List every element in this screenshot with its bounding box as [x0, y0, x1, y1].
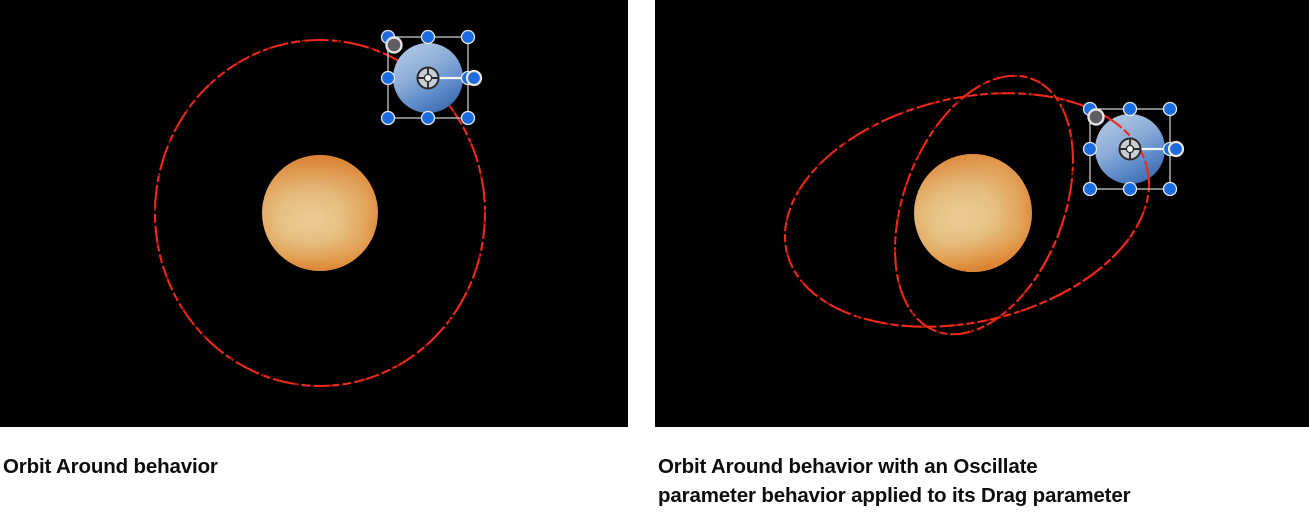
center-crosshair-icon[interactable]	[1120, 139, 1141, 160]
resize-handle-bottom-left[interactable]	[1084, 183, 1097, 196]
orange-sphere[interactable]	[914, 154, 1032, 272]
resize-handle-bottom-left[interactable]	[382, 112, 395, 125]
figure-caption-orbit-around: Orbit Around behavior	[3, 452, 623, 481]
canvas-orbit-around[interactable]	[0, 0, 628, 427]
resize-handle-middle-left[interactable]	[1084, 143, 1097, 156]
resize-handle-bottom-right[interactable]	[462, 112, 475, 125]
resize-handle-bottom-center[interactable]	[422, 112, 435, 125]
resize-handle-top-right[interactable]	[1164, 103, 1177, 116]
resize-handle-top-center[interactable]	[1124, 103, 1137, 116]
anchor-point-handle[interactable]	[387, 38, 402, 53]
orbit-around-oscillate-scene	[655, 0, 1309, 427]
resize-handle-bottom-center[interactable]	[1124, 183, 1137, 196]
rotation-handle[interactable]	[1169, 142, 1183, 156]
canvas-orbit-around-oscillate[interactable]	[655, 0, 1309, 427]
figure-caption-orbit-around-oscillate: Orbit Around behavior with an Oscillate …	[658, 452, 1308, 510]
anchor-point-handle[interactable]	[1089, 110, 1104, 125]
resize-handle-top-right[interactable]	[462, 31, 475, 44]
orbit-around-scene	[0, 0, 628, 427]
rotation-handle[interactable]	[467, 71, 481, 85]
figure-sheet: Orbit Around behavior	[0, 0, 1309, 527]
center-crosshair-icon[interactable]	[418, 68, 439, 89]
orange-sphere[interactable]	[262, 155, 378, 271]
resize-handle-bottom-right[interactable]	[1164, 183, 1177, 196]
resize-handle-top-center[interactable]	[422, 31, 435, 44]
figure-orbit-around: Orbit Around behavior	[0, 0, 628, 427]
figure-orbit-around-oscillate: Orbit Around behavior with an Oscillate …	[655, 0, 1309, 427]
resize-handle-middle-left[interactable]	[382, 72, 395, 85]
